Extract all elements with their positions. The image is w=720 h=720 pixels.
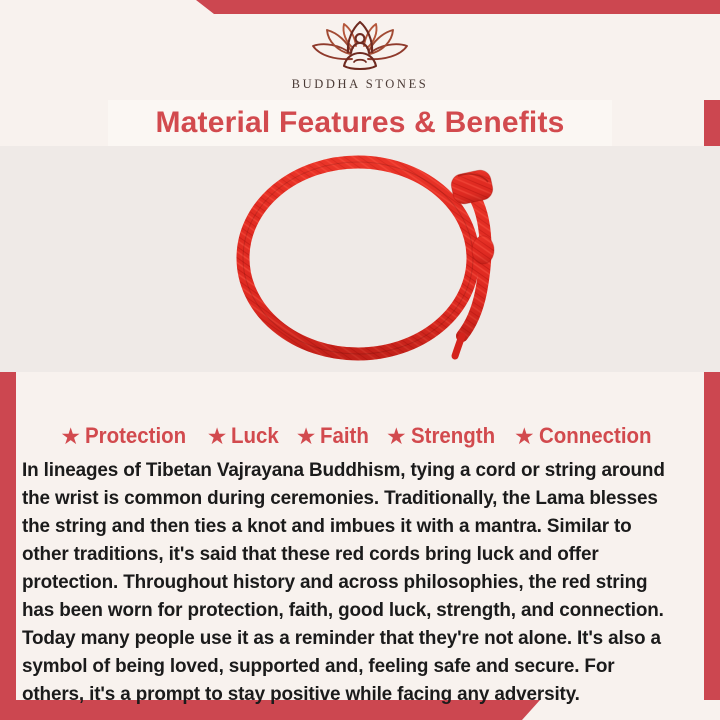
benefit-label: Luck [231,425,279,447]
benefits-row: ★ Protection ★ Luck ★ Faith ★ Strength ★… [0,418,720,454]
page-title-band: Material Features & Benefits [108,100,612,146]
benefit-item-luck: ★ Luck [207,425,283,448]
description-text: In lineages of Tibetan Vajrayana Buddhis… [22,456,670,708]
benefit-label: Strength [411,425,495,447]
red-string-bracelet-illustration [0,146,720,372]
frame-top-accent [0,0,720,14]
star-icon: ★ [60,425,81,448]
benefit-item-connection: ★ Connection [514,425,660,448]
infographic-page: BUDDHA STONES Material Features & Benefi… [0,0,720,720]
brand-header: BUDDHA STONES [0,14,720,100]
benefit-item-protection: ★ Protection [60,425,193,448]
benefit-label: Connection [539,425,652,447]
page-title: Material Features & Benefits [155,106,564,140]
benefit-label: Protection [85,425,186,447]
bracelet-knot [449,168,494,206]
star-icon: ★ [514,425,535,448]
star-icon: ★ [207,425,228,448]
star-icon: ★ [386,425,407,448]
product-image [0,146,720,372]
name-banner-row: Red String [0,373,720,407]
star-icon: ★ [296,425,317,448]
benefit-label: Faith [320,425,369,447]
lotus-meditation-icon [306,18,414,76]
brand-wordmark: BUDDHA STONES [292,77,429,92]
benefit-item-strength: ★ Strength [386,425,501,448]
benefit-item-faith: ★ Faith [296,425,373,448]
